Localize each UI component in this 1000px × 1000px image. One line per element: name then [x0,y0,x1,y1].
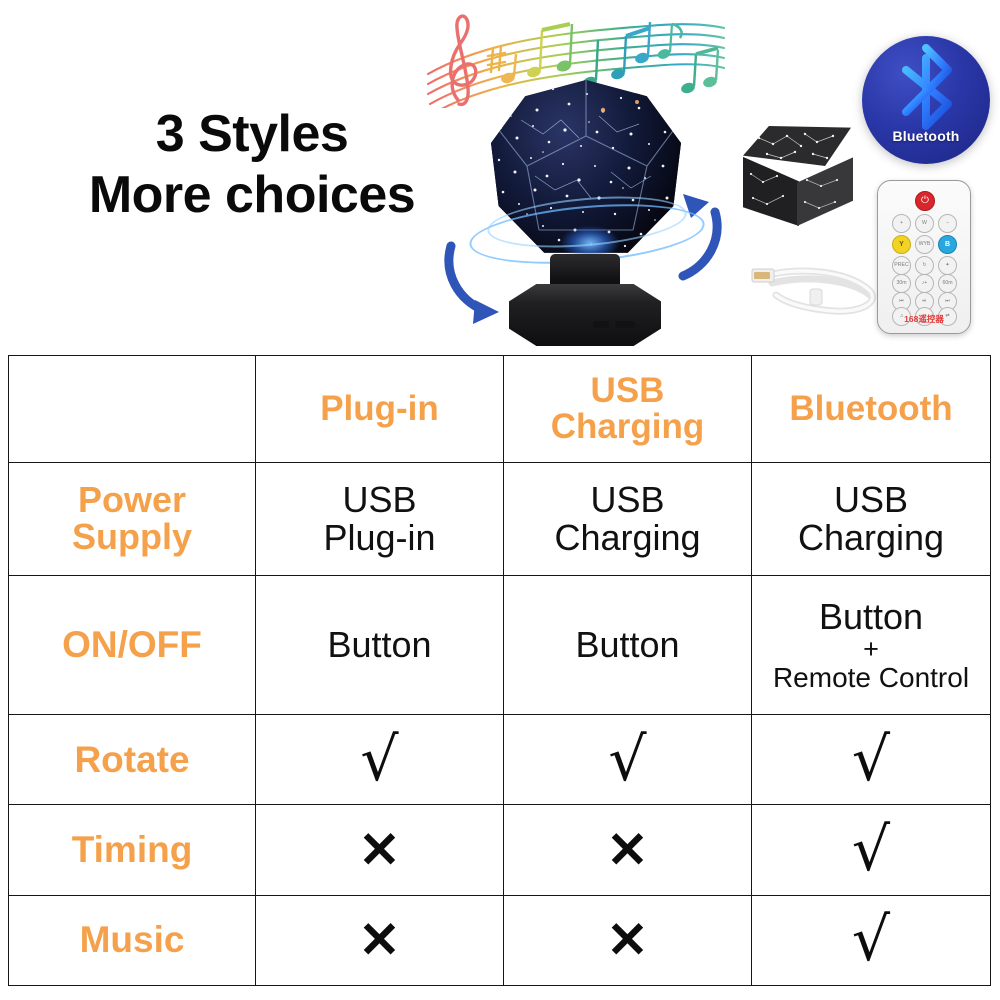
page-title: 3 Styles More choices [52,104,452,227]
remote-model-label: 168遥控器 [878,313,970,325]
remote-volume-up-button[interactable]: ♪+ [915,274,934,293]
constellation-pattern-left [743,154,799,226]
constellation-pattern-top [743,126,851,166]
check-mark-icon: √ [508,730,747,790]
table-row-timing: Timing ✕ ✕ √ [9,805,991,895]
remote-b-button[interactable]: B [938,235,957,254]
cross-mark-icon: ✕ [508,915,747,965]
constellation-gift-box [737,126,859,230]
row-label-line2: Supply [72,516,192,557]
cell-line2: Plug-in [323,517,435,558]
row-label-line1: Rotate [74,739,189,780]
row-label-power-supply: Power Supply [9,463,256,576]
row-label-timing: Timing [9,805,256,895]
cell-timing-bluetooth: √ [752,805,991,895]
cell-timing-usb-charging: ✕ [504,805,752,895]
cross-mark-icon: ✕ [260,915,499,965]
cell-line1: USB [590,479,664,520]
cell-rotate-usb-charging: √ [504,714,752,804]
table-row-rotate: Rotate √ √ √ [9,714,991,804]
cell-line1: Button [819,596,923,637]
cell-line1: Button [327,624,431,665]
check-mark-icon: √ [756,820,986,880]
cell-power-supply-bluetooth: USB Charging [752,463,991,576]
cross-mark-icon: ✕ [260,825,499,875]
cell-power-supply-usb-charging: USB Charging [504,463,752,576]
cell-plus-sign: + [756,636,986,663]
remote-power-button[interactable]: ⏻ [915,191,935,211]
cell-line1: USB [834,479,908,520]
cell-line1: Button [575,624,679,665]
cell-on-off-plug-in: Button [256,576,504,715]
cell-music-bluetooth: √ [752,895,991,985]
usb-cable [742,245,894,325]
check-mark-icon: √ [756,730,986,790]
header-cell-plug-in: Plug-in [256,356,504,463]
remote-prec-button[interactable]: PREC [892,256,911,275]
lamp-base [509,284,661,346]
row-label-rotate: Rotate [9,714,256,804]
infographic-page: 3 Styles More choices [0,0,1000,1000]
cell-line2: Charging [554,517,700,558]
cross-mark-icon: ✕ [508,825,747,875]
table-row-power-supply: Power Supply USB Plug-in USB Charg [9,463,991,576]
remote-plus-button[interactable]: + [892,214,911,233]
comparison-table-wrapper: Plug-in USB Charging Bluetooth [8,355,990,986]
row-label-line1: ON/OFF [62,624,202,665]
bluetooth-badge: Bluetooth [862,36,990,164]
remote-y-button[interactable]: Y [892,235,911,254]
row-label-on-off: ON/OFF [9,576,256,715]
bluetooth-icon [862,36,990,164]
remote-control: ⏻ + W − Y WYB B PREC ↻ ✦ 30m ♪+ 60m ⏮ ⏯ … [877,180,971,334]
cell-line2: Remote Control [756,663,986,693]
gift-box-top [743,126,851,166]
cell-power-supply-plug-in: USB Plug-in [256,463,504,576]
cell-on-off-bluetooth: Button + Remote Control [752,576,991,715]
remote-rotate-button[interactable]: ↻ [915,256,934,275]
gift-box-left [743,154,799,226]
headline-line-1: 3 Styles [52,104,452,165]
row-label-music: Music [9,895,256,985]
row-label-line1: Timing [72,829,193,870]
cell-music-plug-in: ✕ [256,895,504,985]
comparison-table: Plug-in USB Charging Bluetooth [8,355,991,986]
remote-timer-60-button[interactable]: 60m [938,274,957,293]
gift-box-right [797,156,853,226]
cell-on-off-usb-charging: Button [504,576,752,715]
remote-wyb-button[interactable]: WYB [915,235,934,254]
header-bluetooth-label: Bluetooth [789,389,952,428]
header-plug-in-label: Plug-in [320,389,439,428]
cell-music-usb-charging: ✕ [504,895,752,985]
table-row-music: Music ✕ ✕ √ [9,895,991,985]
hero-section: 3 Styles More choices [0,0,1000,355]
header-usb-line2: Charging [551,407,705,446]
table-row-on-off: ON/OFF Button Button Button + Remote Con… [9,576,991,715]
cell-rotate-plug-in: √ [256,714,504,804]
remote-timer-30-button[interactable]: 30m [892,274,911,293]
remote-minus-button[interactable]: − [938,214,957,233]
header-corner-cell [9,356,256,463]
check-mark-icon: √ [260,730,499,790]
remote-flash-button[interactable]: ✦ [938,256,957,275]
header-cell-usb-charging: USB Charging [504,356,752,463]
cell-timing-plug-in: ✕ [256,805,504,895]
bluetooth-badge-label: Bluetooth [862,128,990,144]
cell-rotate-bluetooth: √ [752,714,991,804]
star-projector-lamp [443,78,723,355]
remote-w-button[interactable]: W [915,214,934,233]
cell-line1: USB [342,479,416,520]
check-mark-icon: √ [756,910,986,970]
table-header-row: Plug-in USB Charging Bluetooth [9,356,991,463]
constellation-pattern-right [797,156,853,226]
headline-line-2: More choices [52,165,452,226]
header-usb-line1: USB [591,371,665,410]
lamp-base-ports [593,321,635,328]
row-label-line1: Power [78,479,186,520]
cell-line2: Charging [798,517,944,558]
row-label-line1: Music [80,919,185,960]
header-cell-bluetooth: Bluetooth [752,356,991,463]
